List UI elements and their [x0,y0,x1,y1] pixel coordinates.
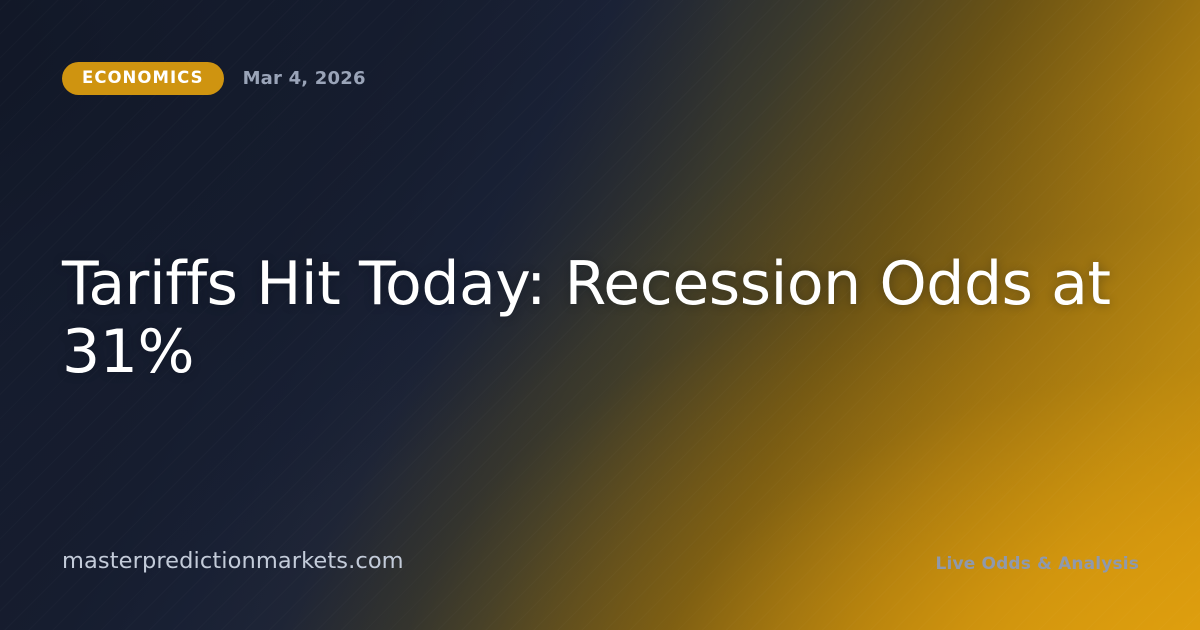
social-share-card: ECONOMICS Mar 4, 2026 Tariffs Hit Today:… [0,0,1200,630]
page-title: Tariffs Hit Today: Recession Odds at 31% [62,251,1139,385]
site-domain[interactable]: masterpredictionmarkets.com [62,548,404,574]
publish-date: Mar 4, 2026 [243,68,366,89]
card-footer: masterpredictionmarkets.com Live Odds & … [62,548,1139,574]
headline-region: Tariffs Hit Today: Recession Odds at 31% [62,89,1139,548]
site-tagline: Live Odds & Analysis [936,554,1139,574]
card-content: ECONOMICS Mar 4, 2026 Tariffs Hit Today:… [0,0,1200,630]
